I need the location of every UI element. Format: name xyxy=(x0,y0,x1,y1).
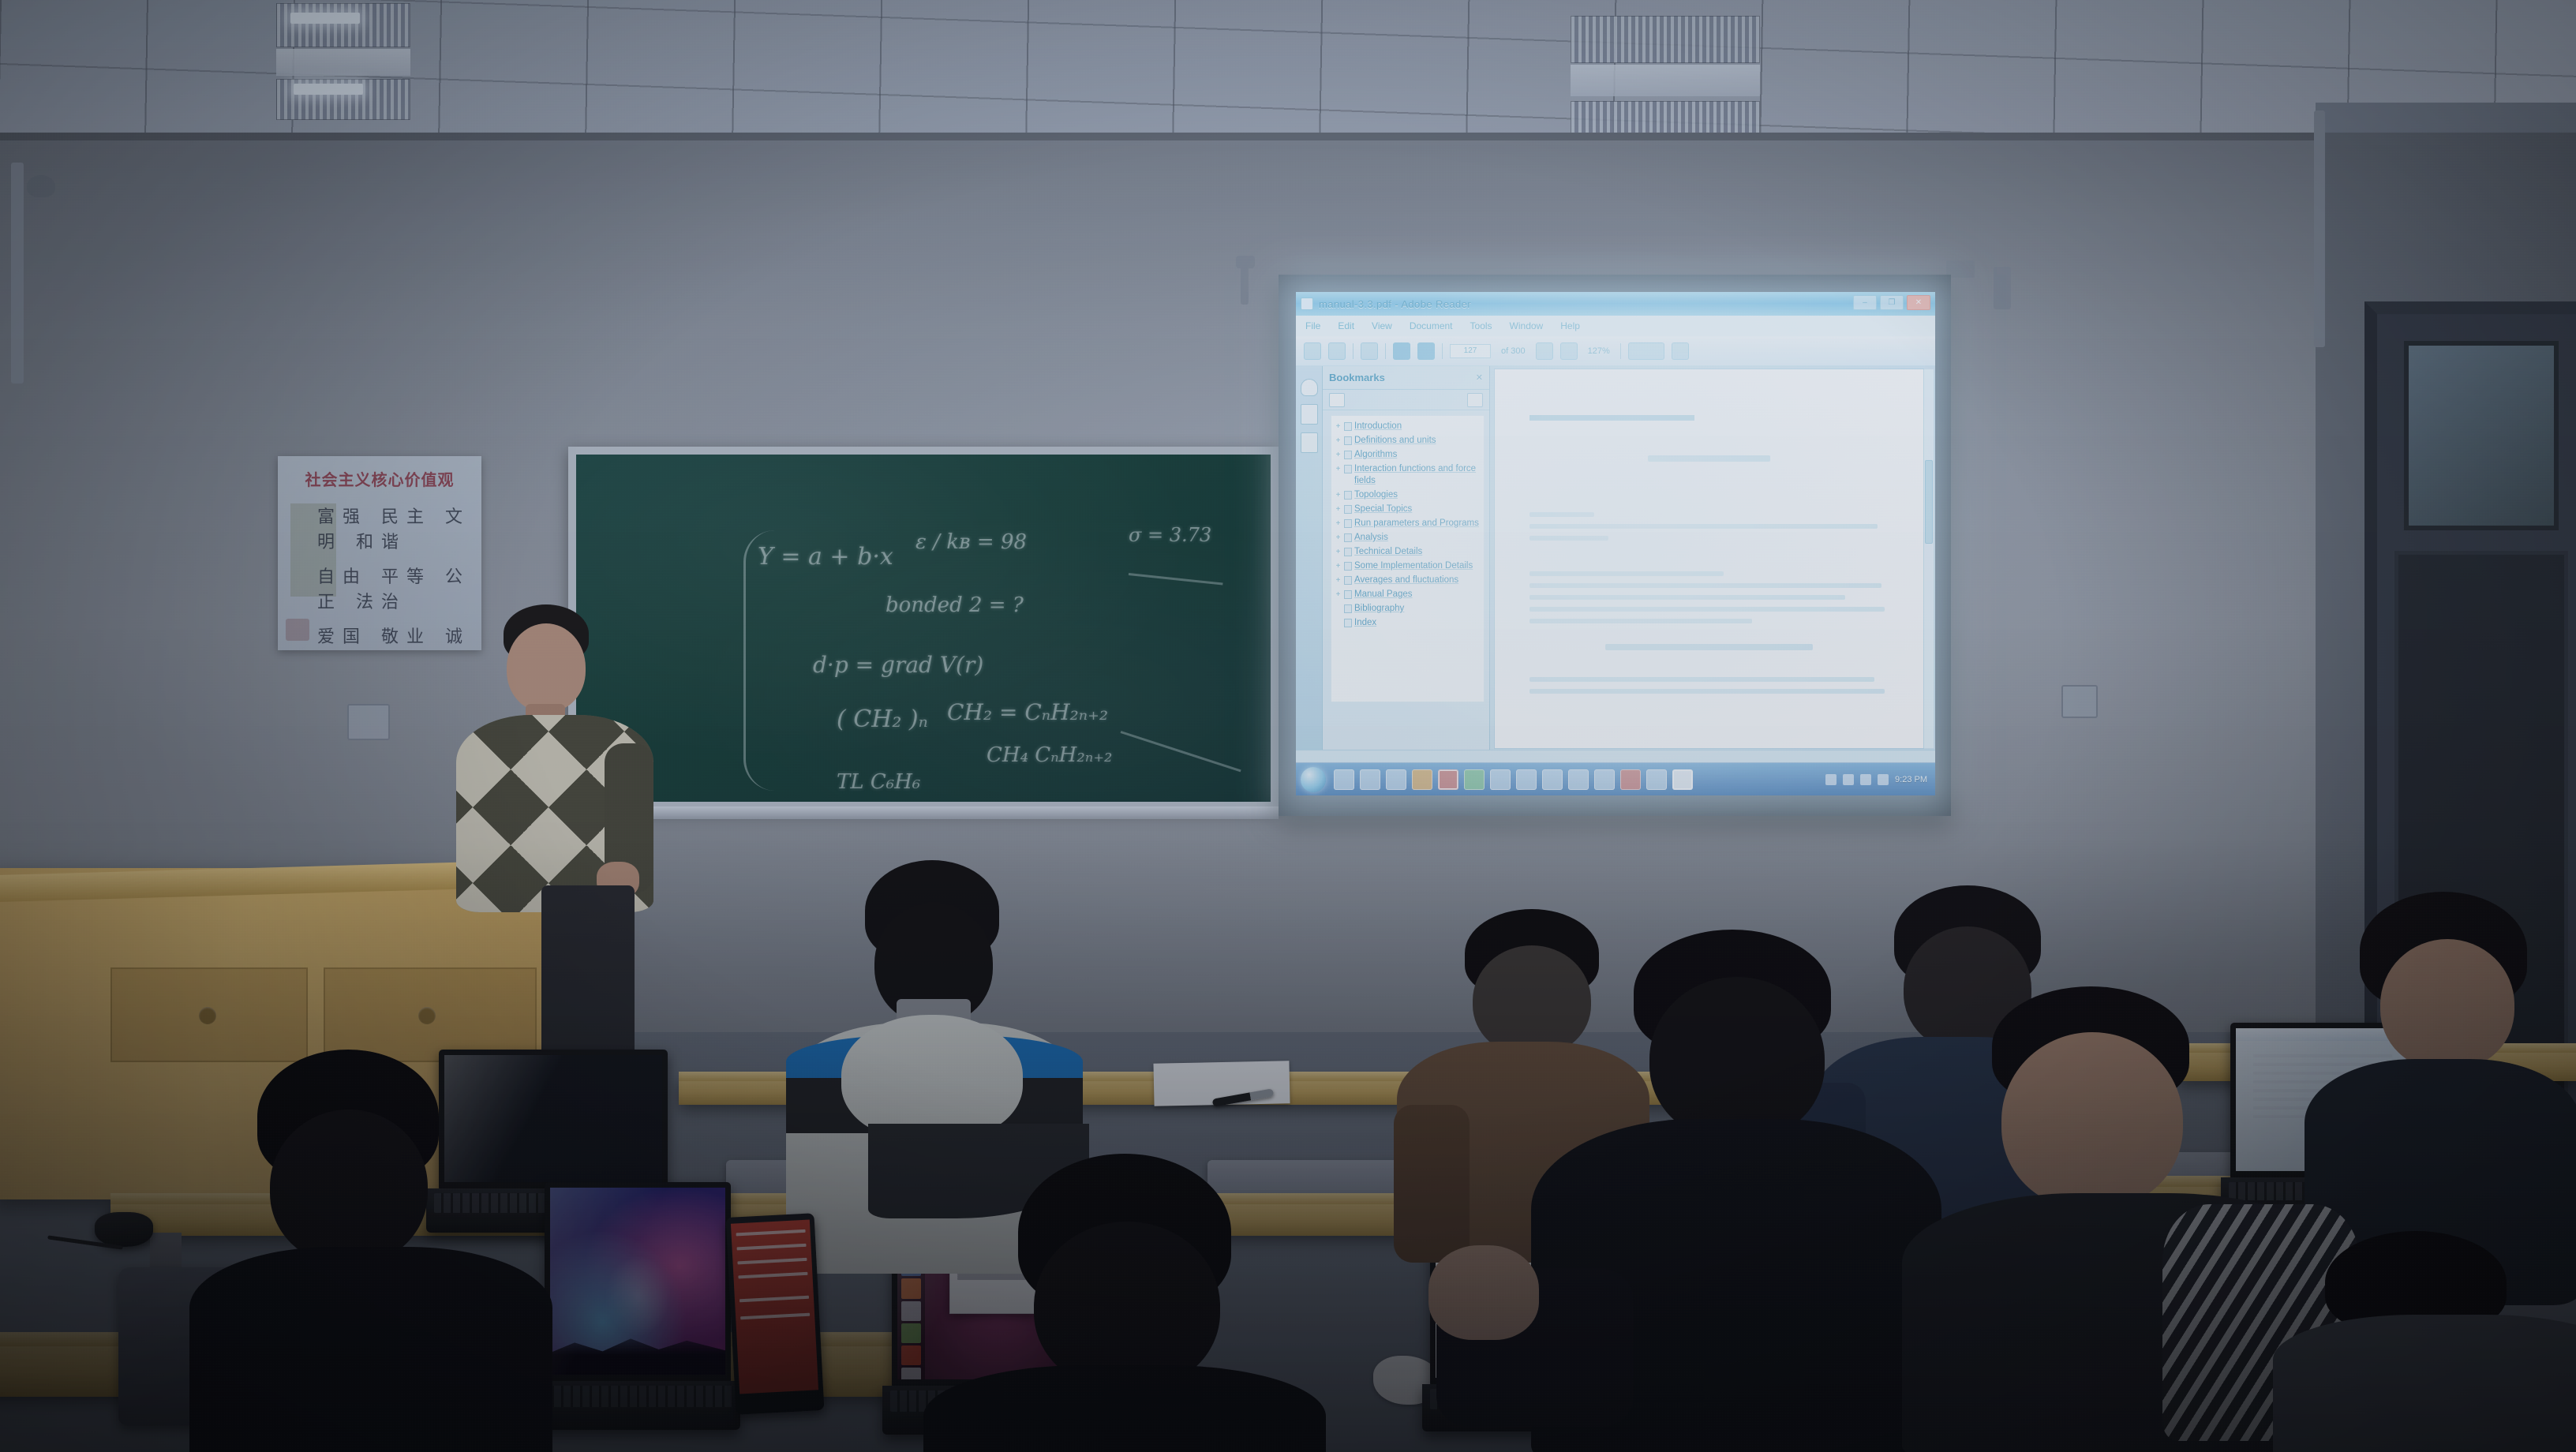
pdf-page xyxy=(1495,369,1923,748)
laptop-screen xyxy=(550,1188,725,1375)
menu-tools[interactable]: Tools xyxy=(1470,320,1492,331)
blackboard: Y = a + b·x ε / kʙ = 98 σ = 3.73 bonded … xyxy=(576,455,1271,802)
bookmark-item-run-parameters-and-programs[interactable]: + Run parameters and Programs xyxy=(1333,518,1481,530)
ceiling-lamp-1 xyxy=(290,13,360,24)
ceiling-panel-right xyxy=(1571,65,1760,96)
phone-screen[interactable] xyxy=(731,1220,818,1394)
document-scrollbar[interactable] xyxy=(1923,369,1934,748)
tray-volume-icon[interactable] xyxy=(1860,774,1871,785)
laptop-galaxy-wallpaper[interactable] xyxy=(545,1182,731,1435)
expand-icon[interactable]: + xyxy=(1335,503,1342,515)
window-titlebar[interactable]: manual-3.3.pdf - Adobe Reader – ❐ ✕ xyxy=(1296,292,1935,316)
bookmark-item-averages-and-fluctuations[interactable]: + Averages and fluctuations xyxy=(1333,574,1481,586)
taskbar-icon-powerpoint[interactable] xyxy=(1542,769,1563,790)
panel-close-icon[interactable]: ✕ xyxy=(1476,372,1483,383)
bookmark-label[interactable]: Algorithms xyxy=(1354,449,1397,461)
bookmark-item-definitions-and-units[interactable]: + Definitions and units xyxy=(1333,435,1481,447)
expand-icon[interactable]: + xyxy=(1335,560,1342,572)
page-spacer-2 xyxy=(1529,548,1889,571)
student-foreground-right xyxy=(2289,1231,2576,1452)
pages-panel-icon[interactable] xyxy=(1301,404,1318,425)
page-spacer-1 xyxy=(1529,488,1889,512)
phone-ui-line xyxy=(736,1229,806,1237)
bookmark-item-introduction[interactable]: + Introduction xyxy=(1333,421,1481,432)
expand-icon[interactable]: + xyxy=(1335,518,1342,530)
phone-ui-line xyxy=(738,1272,807,1279)
wall-outlet-right[interactable] xyxy=(2061,685,2098,718)
page-text-line xyxy=(1529,512,1594,517)
poster-title: 社会主义核心价值观 xyxy=(286,467,474,490)
expand-icon[interactable]: + xyxy=(1335,435,1342,447)
print-icon[interactable] xyxy=(1328,342,1346,360)
ceiling-lamp-2 xyxy=(294,84,363,95)
minimize-button[interactable]: – xyxy=(1853,295,1877,310)
page-text-line xyxy=(1529,677,1874,682)
bookmark-item-manual-pages[interactable]: + Manual Pages xyxy=(1333,589,1481,601)
laptop-base xyxy=(537,1381,740,1430)
student-foreground-center xyxy=(908,1154,1318,1452)
wall-sensor xyxy=(27,175,55,197)
menu-document[interactable]: Document xyxy=(1410,320,1453,331)
expand-icon[interactable]: + xyxy=(1335,463,1342,475)
taskbar-icon-word[interactable] xyxy=(1490,769,1511,790)
taskbar-icon-explorer[interactable] xyxy=(1334,769,1354,790)
bookmark-label[interactable]: Manual Pages xyxy=(1354,589,1413,601)
instructor-trousers xyxy=(541,885,635,1059)
bookmark-label[interactable]: Some Implementation Details xyxy=(1354,560,1473,572)
bookmarks-panel[interactable]: Bookmarks ✕ + Introduction xyxy=(1323,366,1490,750)
phone-ui-line xyxy=(737,1244,807,1251)
bookmark-label[interactable]: Special Topics xyxy=(1354,503,1412,515)
student-hand xyxy=(1428,1245,1539,1340)
document-viewport[interactable] xyxy=(1490,366,1935,750)
page-equation-2 xyxy=(1605,644,1814,650)
computer-mouse[interactable] xyxy=(95,1212,153,1247)
taskbar-icon-folder[interactable] xyxy=(1594,769,1615,790)
expand-icon[interactable]: + xyxy=(1335,574,1342,586)
toolbar-separator-3 xyxy=(1442,343,1443,359)
menu-window[interactable]: Window xyxy=(1510,320,1544,331)
page-number-input[interactable]: 127 xyxy=(1450,344,1491,358)
wall-conduit-right xyxy=(2314,110,2325,347)
ceiling-panel-left xyxy=(276,49,410,76)
menubar[interactable]: File Edit View Document Tools Window Hel… xyxy=(1296,316,1935,336)
toolbar-separator-1 xyxy=(1353,343,1354,359)
windows-taskbar[interactable]: 9:23 PM xyxy=(1296,762,1935,795)
ceiling-vent-right xyxy=(1571,16,1760,63)
expand-icon[interactable]: + xyxy=(1335,449,1342,461)
page-text-line xyxy=(1529,524,1878,529)
podium-knob-1[interactable] xyxy=(199,1007,216,1024)
adobe-reader-icon xyxy=(1301,298,1313,310)
page-icon xyxy=(1344,548,1352,556)
page-icon xyxy=(1344,465,1352,473)
bookmark-label[interactable]: Topologies xyxy=(1354,489,1398,501)
bookmark-label[interactable]: Index xyxy=(1354,617,1376,629)
bookmark-list[interactable]: + Introduction + Definitions and units + xyxy=(1331,415,1485,702)
student-foreground-left xyxy=(213,1050,545,1452)
door-window xyxy=(2404,341,2559,530)
galaxy-wallpaper xyxy=(550,1188,725,1375)
bookmark-label[interactable]: Introduction xyxy=(1354,421,1402,432)
bookmark-item-topologies[interactable]: + Topologies xyxy=(1333,489,1481,501)
attachments-panel-icon[interactable] xyxy=(1301,432,1318,453)
expand-icon[interactable]: + xyxy=(1335,546,1342,558)
bookmarks-panel-icon[interactable] xyxy=(1301,379,1318,396)
toolbar-separator-4 xyxy=(1620,343,1621,359)
student-head xyxy=(2001,1032,2183,1209)
page-icon xyxy=(1344,436,1352,445)
maximize-button[interactable]: ❐ xyxy=(1880,295,1904,310)
close-button[interactable]: ✕ xyxy=(1907,295,1930,310)
taskbar-icon-excel[interactable] xyxy=(1516,769,1537,790)
navigation-rail[interactable] xyxy=(1296,366,1323,750)
student-jacket xyxy=(2273,1315,2576,1452)
chalk-dust xyxy=(576,455,1271,802)
menu-view[interactable]: View xyxy=(1372,320,1392,331)
chalk-brace xyxy=(743,530,775,791)
menu-edit[interactable]: Edit xyxy=(1338,320,1354,331)
taskbar-icon-terminal[interactable] xyxy=(1464,769,1485,790)
page-icon xyxy=(1344,451,1352,459)
student-coat xyxy=(189,1247,552,1452)
scrollbar-thumb[interactable] xyxy=(1925,460,1933,544)
taskbar-icon-pdf-window[interactable] xyxy=(1620,769,1641,790)
laptop-lid xyxy=(545,1182,731,1384)
page-icon xyxy=(1344,519,1352,528)
page-icon xyxy=(1344,590,1352,599)
page-icon xyxy=(1344,505,1352,514)
student-head xyxy=(270,1110,428,1264)
page-equation-1 xyxy=(1648,455,1770,462)
wall-outlet-left[interactable] xyxy=(347,704,390,740)
menu-file[interactable]: File xyxy=(1305,320,1320,331)
bookmark-item-bibliography[interactable]: Bibliography xyxy=(1333,603,1481,615)
page-icon xyxy=(1344,562,1352,571)
zoom-in-icon[interactable] xyxy=(1560,342,1578,360)
instructor-head xyxy=(507,623,586,712)
classroom-photo: 社会主义核心价值观 富强 民主 文明 和谐 自由 平等 公正 法治 爱国 敬业 … xyxy=(0,0,2576,1452)
projection-screen: manual-3.3.pdf - Adobe Reader – ❐ ✕ File… xyxy=(1279,275,1951,816)
laptop-keyboard[interactable] xyxy=(545,1386,732,1407)
bookmark-item-some-implementation-details[interactable]: + Some Implementation Details xyxy=(1333,560,1481,572)
reader-statusbar xyxy=(1296,750,1935,762)
taskbar-icon-firefox[interactable] xyxy=(1412,769,1432,790)
tray-battery-icon[interactable] xyxy=(1878,774,1889,785)
bookmarks-toolbar[interactable] xyxy=(1323,390,1489,410)
window-title: manual-3.3.pdf - Adobe Reader xyxy=(1319,298,1471,310)
ceiling xyxy=(0,0,2576,142)
new-bookmark-icon[interactable] xyxy=(1467,393,1483,407)
find-field[interactable] xyxy=(1628,342,1664,360)
page-text-line xyxy=(1529,619,1752,623)
screen-mount-left xyxy=(1236,256,1255,268)
bookmark-label[interactable]: Definitions and units xyxy=(1354,435,1436,447)
zoom-out-icon[interactable] xyxy=(1536,342,1553,360)
phone-ui-line xyxy=(737,1258,807,1265)
zoom-level-label: 127% xyxy=(1588,346,1610,356)
page-icon xyxy=(1344,422,1352,431)
bookmark-item-algorithms[interactable]: + Algorithms xyxy=(1333,449,1481,461)
taskbar-icon-image-viewer[interactable] xyxy=(1646,769,1667,790)
expand-icon[interactable]: + xyxy=(1335,489,1342,501)
toolbar[interactable]: 127 of 300 127% xyxy=(1296,336,1935,366)
taskbar-icon-browser[interactable] xyxy=(1386,769,1406,790)
bookmark-label[interactable]: Run parameters and Programs xyxy=(1354,518,1479,530)
podium-knob-2[interactable] xyxy=(418,1007,436,1024)
page-heading-line xyxy=(1529,415,1694,421)
bookmark-label[interactable]: Technical Details xyxy=(1354,546,1422,558)
expand-icon[interactable]: + xyxy=(1335,589,1342,601)
search-icon[interactable] xyxy=(1672,342,1689,360)
page-text-line xyxy=(1529,571,1724,576)
expand-icon[interactable]: + xyxy=(1335,421,1342,432)
page-text-line xyxy=(1529,689,1885,694)
bookmark-item-interaction-functions-and-force-fields[interactable]: + Interaction functions and force fields xyxy=(1333,463,1481,487)
page-text-line xyxy=(1529,607,1885,612)
menu-help[interactable]: Help xyxy=(1560,320,1580,331)
student-head xyxy=(2380,939,2514,1070)
bookmark-label[interactable]: Averages and fluctuations xyxy=(1354,574,1458,586)
student-head xyxy=(1649,977,1825,1141)
page-icon xyxy=(1344,533,1352,542)
ceiling-vent-left xyxy=(276,3,410,47)
mobile-phone[interactable] xyxy=(726,1213,825,1415)
email-icon[interactable] xyxy=(1361,342,1378,360)
snapshot-tool-icon[interactable] xyxy=(1417,342,1435,360)
expand-icon[interactable]: + xyxy=(1335,532,1342,544)
adobe-reader-window: manual-3.3.pdf - Adobe Reader – ❐ ✕ File… xyxy=(1296,292,1935,795)
screen-mount-right-2 xyxy=(1994,267,2011,309)
page-text-line xyxy=(1529,536,1608,541)
wall-ceiling-joint xyxy=(0,133,2576,140)
open-file-icon[interactable] xyxy=(1304,342,1321,360)
student-arm xyxy=(1394,1105,1470,1263)
poster-row: 富强 民主 文明 和谐 xyxy=(317,503,474,553)
page-text-line xyxy=(1529,595,1845,600)
bookmark-item-special-topics[interactable]: + Special Topics xyxy=(1333,503,1481,515)
bookmarks-header: Bookmarks ✕ xyxy=(1323,366,1489,390)
instructor xyxy=(442,604,679,936)
taskbar-icon-active-window[interactable] xyxy=(1672,769,1693,790)
system-tray[interactable]: 9:23 PM xyxy=(1825,774,1930,785)
page-icon xyxy=(1344,604,1352,613)
start-button-icon[interactable] xyxy=(1301,767,1326,792)
student-coat xyxy=(923,1365,1326,1452)
taskbar-icon-notepad[interactable] xyxy=(1568,769,1589,790)
bookmark-label[interactable]: Bibliography xyxy=(1354,603,1404,615)
page-icon xyxy=(1344,619,1352,627)
bookmark-item-index[interactable]: Index xyxy=(1333,617,1481,629)
page-icon xyxy=(1344,491,1352,500)
projected-image: manual-3.3.pdf - Adobe Reader – ❐ ✕ File… xyxy=(1296,292,1935,795)
student-foreground-coat xyxy=(1531,930,1941,1452)
bookmark-options-icon[interactable] xyxy=(1329,393,1345,407)
hoodie-hood xyxy=(841,1015,1023,1141)
tray-network-icon[interactable] xyxy=(1843,774,1854,785)
page-text-line xyxy=(1529,583,1881,588)
bookmark-label[interactable]: Analysis xyxy=(1354,532,1388,544)
bookmark-item-analysis[interactable]: + Analysis xyxy=(1333,532,1481,544)
phone-ui-line xyxy=(739,1296,809,1303)
page-total-label: of 300 xyxy=(1501,346,1526,356)
taskbar-icon-media-player[interactable] xyxy=(1360,769,1380,790)
poster-stamp xyxy=(286,619,309,641)
taskbar-icon-adobe-reader[interactable] xyxy=(1438,769,1458,790)
bookmarks-title: Bookmarks xyxy=(1329,372,1385,384)
select-tool-icon[interactable] xyxy=(1393,342,1410,360)
page-icon xyxy=(1344,576,1352,585)
phone-ui-line xyxy=(740,1313,810,1320)
window-controls[interactable]: – ❐ ✕ xyxy=(1853,295,1930,310)
bookmark-label[interactable]: Interaction functions and force fields xyxy=(1354,463,1481,487)
reader-body: Bookmarks ✕ + Introduction xyxy=(1296,366,1935,750)
wall-conduit-vertical xyxy=(11,163,24,384)
toolbar-separator-2 xyxy=(1385,343,1386,359)
taskbar-clock[interactable]: 9:23 PM xyxy=(1895,775,1927,784)
bookmark-item-technical-details[interactable]: + Technical Details xyxy=(1333,546,1481,558)
tray-show-hidden-icon[interactable] xyxy=(1825,774,1837,785)
